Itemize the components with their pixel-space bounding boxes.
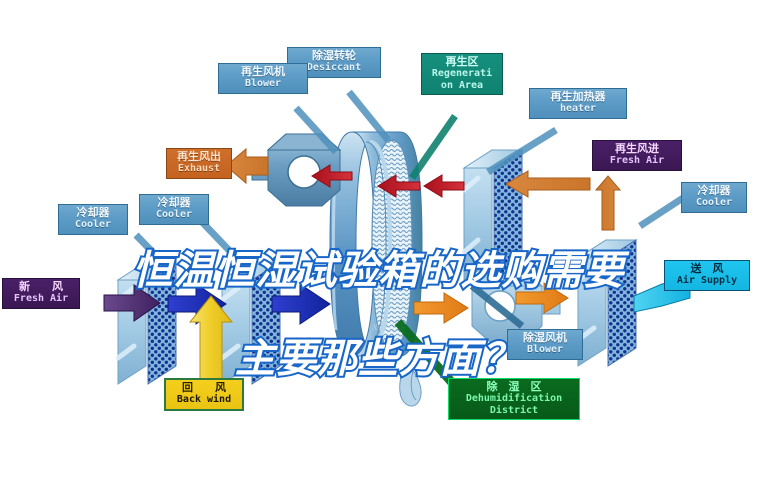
watermark-text: x1t [371, 318, 388, 333]
label-exhaust: 再生风出 Exhaust [166, 148, 232, 179]
label-fresh-air-in: 新 风 Fresh Air [2, 278, 80, 309]
cooler-coil-2 [222, 262, 280, 384]
label-cooler-left-1-en: Cooler [63, 219, 123, 230]
label-fresh-air-in-en: Fresh Air [7, 293, 75, 304]
label-dehumid-district-en: Dehumidification District [453, 393, 575, 415]
label-cooler-left-2-en: Cooler [144, 209, 204, 220]
label-dehumid-blower-en: Blower [512, 344, 578, 355]
label-desiccant-wheel-cn: 除湿转轮 [292, 50, 376, 62]
label-back-wind-cn: 回 风 [170, 382, 238, 394]
dehumidifier-diagram: x1t 除湿转轮 Desiccant 再生风机 Blower 再生区 Regen… [0, 0, 757, 488]
label-regeneration-area: 再生区 Regenerati on Area [421, 53, 503, 95]
label-regen-heater-en: heater [534, 103, 622, 114]
label-cooler-left-2: 冷却器 Cooler [139, 194, 209, 225]
label-back-wind: 回 风 Back wind [164, 378, 244, 411]
label-regen-fresh-air-cn: 再生风进 [597, 143, 677, 155]
label-regen-blower: 再生风机 Blower [218, 63, 308, 94]
regen-intake-up [596, 176, 620, 230]
cooler-coil-3 [578, 240, 636, 366]
drain-drip [400, 366, 421, 406]
label-exhaust-cn: 再生风出 [171, 151, 227, 163]
label-cooler-left-2-cn: 冷却器 [144, 197, 204, 209]
label-dehumid-district-cn: 除 湿 区 [453, 381, 575, 393]
label-cooler-right: 冷却器 Cooler [681, 182, 747, 213]
label-regeneration-area-cn: 再生区 [426, 56, 498, 68]
regen-hot-arrow-3 [424, 175, 464, 197]
label-regen-fresh-air: 再生风进 Fresh Air [592, 140, 682, 171]
label-air-supply-en: Air Supply [669, 275, 745, 286]
label-regeneration-area-en: Regenerati on Area [426, 68, 498, 90]
label-dehumid-blower: 除湿风机 Blower [507, 329, 583, 360]
label-regen-blower-en: Blower [223, 78, 303, 89]
cooler-coil-1 [118, 262, 176, 384]
dry-air-arrow-1 [414, 293, 468, 323]
label-exhaust-en: Exhaust [171, 163, 227, 174]
label-cooler-right-en: Cooler [686, 197, 742, 208]
process-arrow-2 [272, 284, 330, 324]
label-air-supply: 送 风 Air Supply [664, 260, 750, 291]
label-fresh-air-in-cn: 新 风 [7, 281, 75, 293]
label-air-supply-cn: 送 风 [669, 263, 745, 275]
label-regen-blower-cn: 再生风机 [223, 66, 303, 78]
label-dehumidification-district: 除 湿 区 Dehumidification District [448, 378, 580, 420]
label-cooler-left-1: 冷却器 Cooler [58, 204, 128, 235]
label-regen-fresh-air-en: Fresh Air [597, 155, 677, 166]
label-regen-heater-cn: 再生加热器 [534, 91, 622, 103]
label-cooler-right-cn: 冷却器 [686, 185, 742, 197]
label-regen-heater: 再生加热器 heater [529, 88, 627, 119]
label-back-wind-en: Back wind [170, 394, 238, 405]
label-cooler-left-1-cn: 冷却器 [63, 207, 123, 219]
label-dehumid-blower-cn: 除湿风机 [512, 332, 578, 344]
